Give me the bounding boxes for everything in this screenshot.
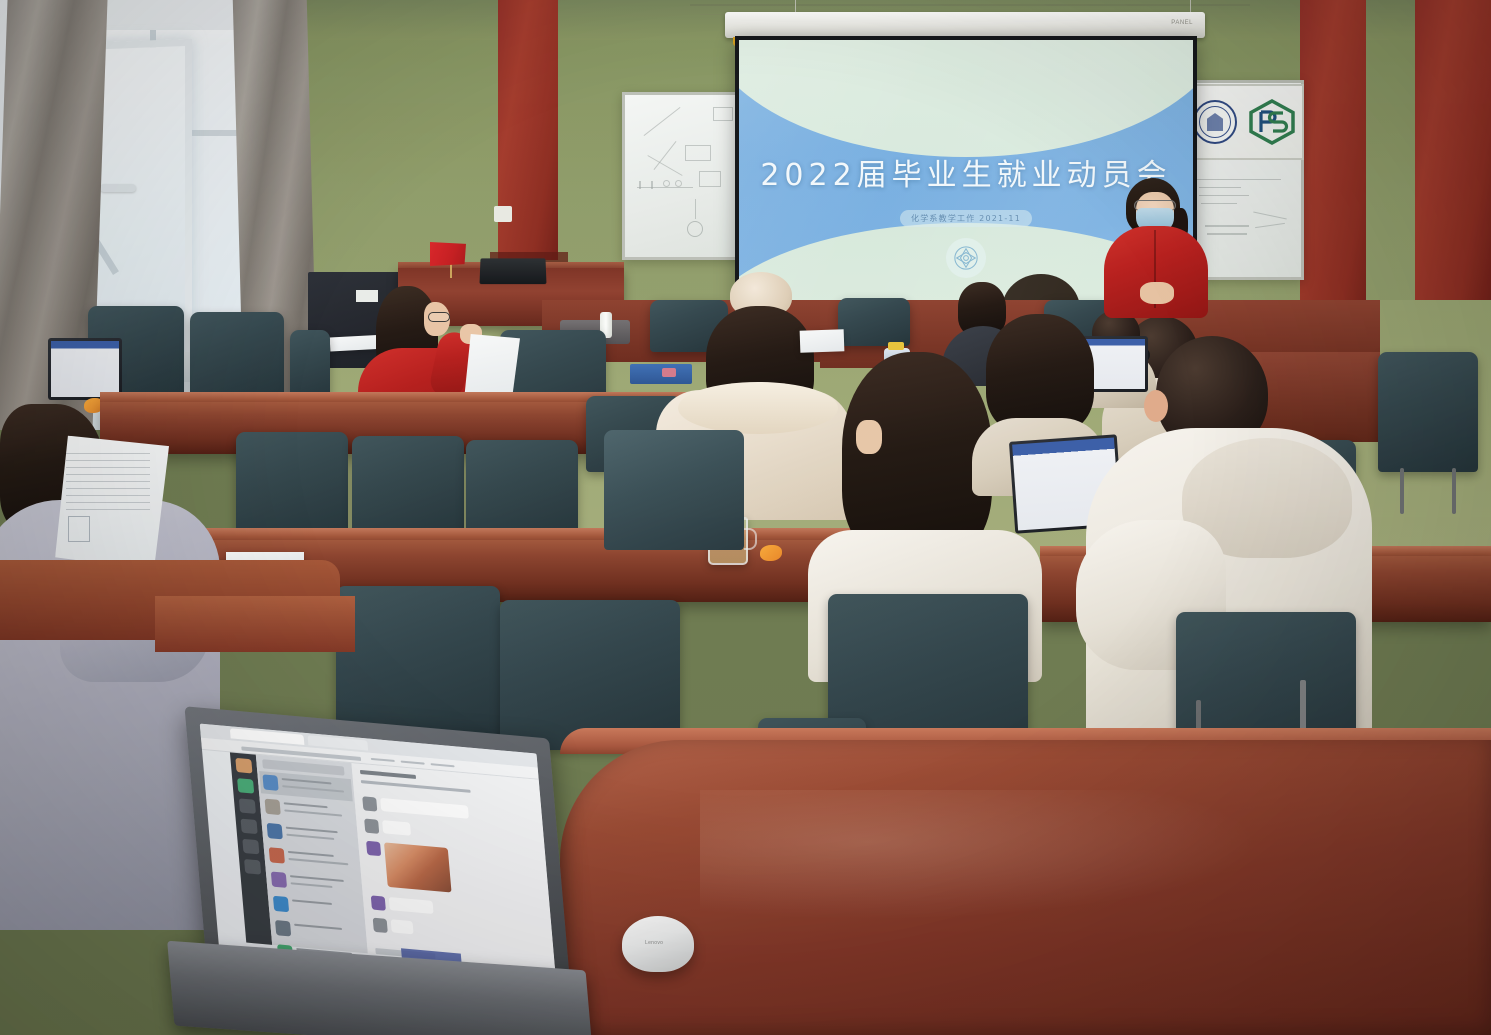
projector-screen-roller[interactable]: PANEL [725,12,1205,38]
left-foreground-desk-lower [155,596,355,652]
empty-chair[interactable] [290,330,330,400]
message-bubble [380,798,469,819]
avatar [273,896,289,913]
message-bubble [389,897,434,914]
papers-on-desk [800,329,845,353]
slide-emblem-icon [946,238,986,278]
ceiling-conduit [690,4,1250,6]
avatar [362,796,377,811]
conversation-meta [361,780,471,793]
contacts-icon [239,798,256,814]
empty-chair[interactable] [1378,352,1478,472]
screen-brand-label: PANEL [1171,20,1193,26]
conversation-list[interactable] [256,755,368,954]
brick-column-right [1300,0,1366,345]
chat-icon [237,778,254,794]
avatar [366,841,381,856]
red-jacket [1104,226,1208,318]
hands [1140,282,1174,304]
chinese-flag-icon [430,242,466,266]
mouse-brand-label: Lenovo [645,940,663,946]
message-bubble [382,820,411,836]
avatar [262,774,278,791]
cup-handle [744,528,757,550]
avatar [265,799,281,816]
student-laptop[interactable] [48,338,122,400]
chair-leg [1452,468,1456,514]
settings-icon [244,859,261,875]
empty-chair[interactable] [236,432,348,542]
foreground-desk [560,740,1491,1035]
slide-subtitle: 化学系教学工作 2021-11 [900,210,1032,227]
avatar [364,819,379,834]
avatar [373,918,388,933]
image-message[interactable] [384,842,452,892]
chair-leg [1400,468,1404,514]
avatar [235,758,252,774]
empty-chair[interactable] [352,436,464,542]
message-bubble [391,919,414,934]
wall-poster [1186,84,1304,160]
message-pane [351,763,555,970]
occupied-chair[interactable] [604,430,744,550]
brick-column-far-right [1415,0,1491,300]
slide-arc-top [739,40,1193,157]
document-text-lines [66,452,150,510]
psh-hex-logo-icon [1247,99,1297,145]
avatar [271,871,287,888]
avatar [371,895,386,910]
avatar [269,847,285,864]
window-handle[interactable] [100,184,136,192]
wall-outlet[interactable] [494,206,512,222]
university-seal-icon [1193,100,1237,144]
avatar [275,920,291,937]
glasses-icon [428,312,450,322]
files-icon [241,819,258,835]
yellow-marker [888,342,904,350]
document-seal [68,516,90,542]
empty-chair[interactable] [190,312,284,398]
avatar [267,823,283,840]
classroom-photo: PANEL 2022届毕业生就业动员会 化学系教学工作 2021-11 [0,0,1491,1035]
podium-laptop[interactable] [479,258,546,284]
conversation-title [360,770,416,779]
ear [1144,390,1168,422]
presenter [1100,178,1210,318]
hand [856,420,882,454]
favorites-icon [242,839,259,855]
orange-object [760,545,782,561]
